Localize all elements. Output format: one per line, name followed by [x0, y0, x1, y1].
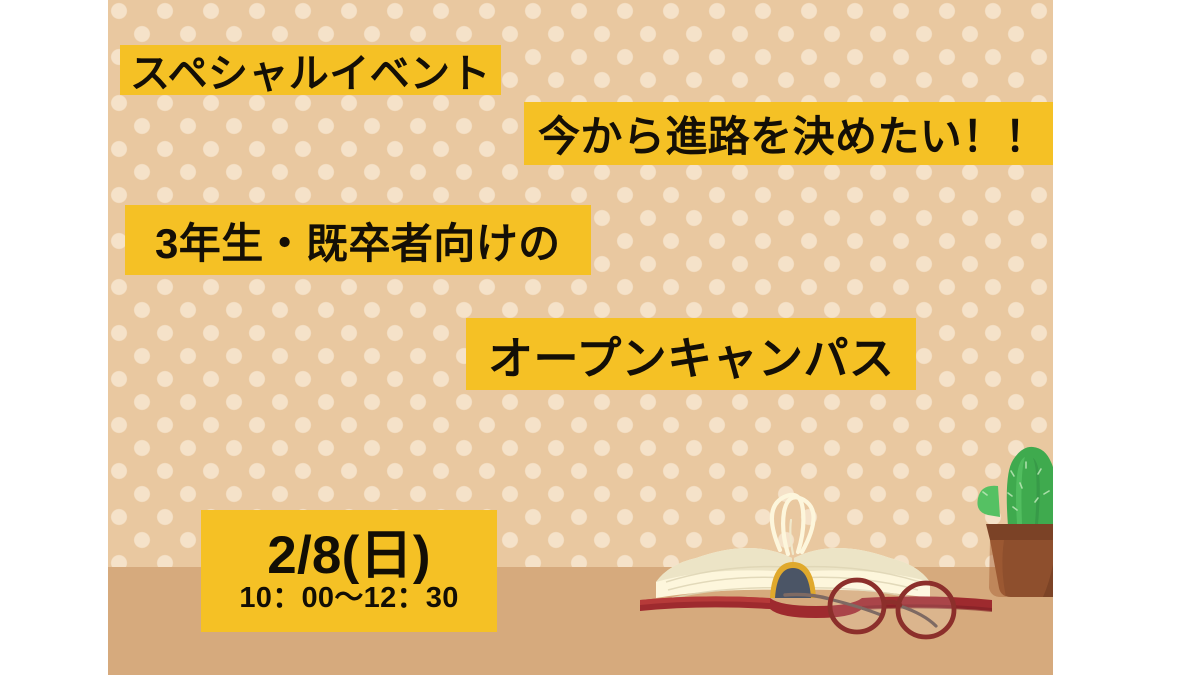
- right-blank-band: [1053, 0, 1200, 675]
- schedule-time: 10：00〜12：30: [239, 584, 458, 613]
- left-blank-band: [0, 0, 108, 675]
- schedule-date: 2/8(日): [267, 529, 431, 582]
- headline-event-name-band: オープンキャンパス: [466, 318, 916, 390]
- poster-canvas: スペシャルイベント 今から進路を決めたい！！ 3年生・既卒者向けの オープンキャ…: [0, 0, 1200, 675]
- headline-hook-text: 今から進路を決めたい！！: [538, 103, 1047, 164]
- schedule-block: 2/8(日) 10：00〜12：30: [201, 510, 497, 632]
- poster-artboard: スペシャルイベント 今から進路を決めたい！！ 3年生・既卒者向けの オープンキャ…: [108, 0, 1053, 675]
- headline-hook-band: 今から進路を決めたい！！: [524, 102, 1053, 165]
- headline-audience-band: 3年生・既卒者向けの: [125, 205, 591, 275]
- headline-event-name-text: オープンキャンパス: [488, 322, 894, 387]
- headline-eyebrow-text: スペシャルイベント: [130, 41, 491, 99]
- headline-audience-text: 3年生・既卒者向けの: [155, 210, 561, 271]
- headline-eyebrow-band: スペシャルイベント: [120, 45, 501, 95]
